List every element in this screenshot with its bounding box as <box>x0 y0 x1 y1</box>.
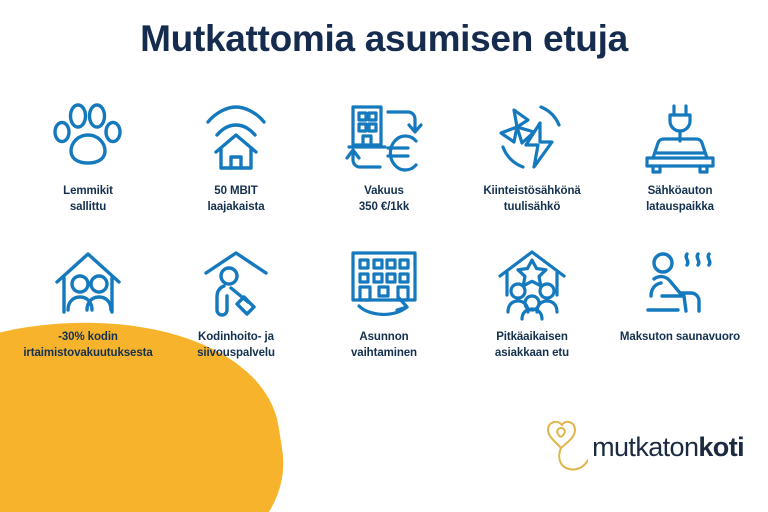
benefit-item-deposit: Vakuus 350 €/1kk <box>310 96 458 215</box>
house-star-people-icon <box>492 242 572 328</box>
benefit-item-wind-power: Kiinteistösähkönä tuulisähkö <box>458 96 606 215</box>
benefits-grid: Lemmikit sallittu 50 MBIT laajakaista <box>14 96 754 388</box>
page-title: Mutkattomia asumisen etuja <box>0 18 768 60</box>
wind-turbine-bolt-icon <box>493 96 571 182</box>
benefit-item-free-sauna: Maksuton saunavuoro <box>606 242 754 346</box>
brand-logo[interactable]: mutkatonkoti <box>540 417 744 478</box>
apartment-swap-icon <box>343 242 425 328</box>
benefit-item-home-insurance: -30% kodin irtaimistovakuutuksesta <box>14 242 162 361</box>
benefit-item-loyalty: Pitkäaikaisen asiakkaan etu <box>458 242 606 361</box>
benefit-label: Lemmikit sallittu <box>63 184 113 215</box>
brand-name-bold: koti <box>698 432 744 462</box>
benefit-label: Sähköauton latauspaikka <box>646 184 714 215</box>
benefits-row-2: -30% kodin irtaimistovakuutuksesta Kodin… <box>14 242 754 388</box>
poster-canvas: Mutkattomia asumisen etuja Lemmikit sall… <box>0 0 768 512</box>
brand-name: mutkatonkoti <box>592 432 744 463</box>
wifi-house-icon <box>199 96 273 182</box>
house-family-icon <box>49 242 127 328</box>
building-euro-icon <box>344 96 424 182</box>
benefit-item-cleaning-service: Kodinhoito- ja siivouspalvelu <box>162 242 310 361</box>
benefit-item-broadband: 50 MBIT laajakaista <box>162 96 310 215</box>
heart-swoosh-icon <box>540 417 588 478</box>
benefit-item-apartment-swap: Asunnon vaihtaminen <box>310 242 458 361</box>
benefits-row-1: Lemmikit sallittu 50 MBIT laajakaista <box>14 96 754 242</box>
cleaning-person-icon <box>198 242 274 328</box>
brand-name-light: mutkaton <box>592 432 698 462</box>
benefit-label: Pitkäaikaisen asiakkaan etu <box>495 330 569 361</box>
sauna-steam-icon <box>640 242 720 328</box>
electric-car-plug-icon <box>639 96 721 182</box>
benefit-label: Kodinhoito- ja siivouspalvelu <box>197 330 275 361</box>
benefit-item-ev-charging: Sähköauton latauspaikka <box>606 96 754 215</box>
benefit-item-pets: Lemmikit sallittu <box>14 96 162 215</box>
benefit-label: Kiinteistösähkönä tuulisähkö <box>483 184 580 215</box>
benefit-label: 50 MBIT laajakaista <box>207 184 264 215</box>
benefit-label: Maksuton saunavuoro <box>620 330 740 346</box>
paw-print-icon <box>52 96 124 182</box>
benefit-label: Vakuus 350 €/1kk <box>359 184 409 215</box>
benefit-label: -30% kodin irtaimistovakuutuksesta <box>23 330 152 361</box>
benefit-label: Asunnon vaihtaminen <box>351 330 417 361</box>
